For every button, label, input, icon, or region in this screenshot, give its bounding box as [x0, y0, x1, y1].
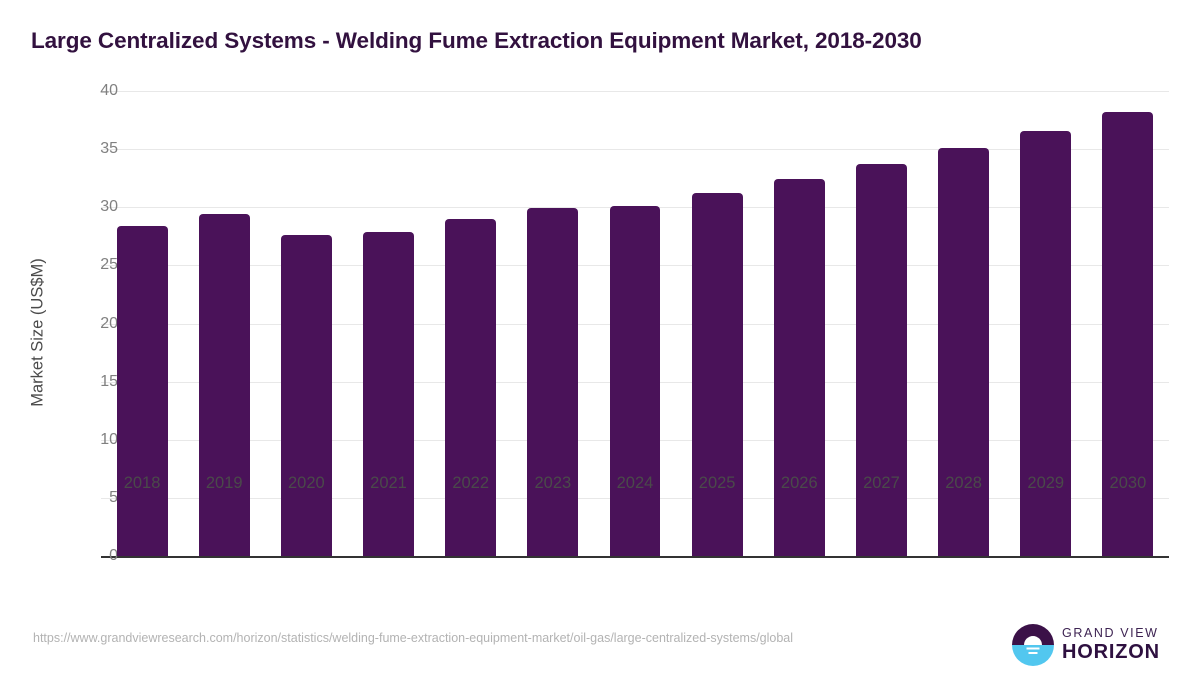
- bar[interactable]: [856, 164, 907, 556]
- x-axis-tick-label: 2022: [430, 474, 512, 493]
- bar[interactable]: [938, 148, 989, 556]
- bar[interactable]: [363, 232, 414, 556]
- logo-line-grand-view: GRAND VIEW: [1062, 626, 1160, 641]
- chart-page: Large Centralized Systems - Welding Fume…: [0, 0, 1200, 675]
- x-axis-tick-label: 2029: [1005, 474, 1087, 493]
- bar[interactable]: [117, 226, 168, 556]
- bar[interactable]: [527, 208, 578, 556]
- horizon-logo-icon: [1012, 624, 1054, 666]
- plot-area: Market Size (US$M) 0510152025303540 2018…: [0, 0, 1200, 620]
- x-axis-tick-label: 2024: [594, 474, 676, 493]
- brand-logo: GRAND VIEW HORIZON: [1012, 622, 1172, 668]
- logo-wordmark: GRAND VIEW HORIZON: [1062, 626, 1160, 663]
- bar[interactable]: [281, 235, 332, 556]
- x-axis-tick-label: 2026: [758, 474, 840, 493]
- bar[interactable]: [610, 206, 661, 556]
- x-axis-tick-label: 2027: [840, 474, 922, 493]
- gridline: [101, 556, 1169, 558]
- bar[interactable]: [692, 193, 743, 556]
- x-axis-tick-label: 2025: [676, 474, 758, 493]
- x-axis-tick-label: 2030: [1087, 474, 1169, 493]
- y-axis-title: Market Size (US$M): [29, 133, 48, 533]
- x-axis-tick-label: 2018: [101, 474, 183, 493]
- x-axis-tick-label: 2021: [347, 474, 429, 493]
- logo-line-horizon: HORIZON: [1062, 641, 1160, 663]
- source-url[interactable]: https://www.grandviewresearch.com/horizo…: [33, 630, 933, 647]
- x-axis-tick-label: 2019: [183, 474, 265, 493]
- bar[interactable]: [445, 219, 496, 556]
- x-axis-tick-label: 2028: [923, 474, 1005, 493]
- x-axis-tick-label: 2020: [265, 474, 347, 493]
- bar[interactable]: [774, 179, 825, 556]
- x-axis-tick-label: 2023: [512, 474, 594, 493]
- bar[interactable]: [199, 214, 250, 556]
